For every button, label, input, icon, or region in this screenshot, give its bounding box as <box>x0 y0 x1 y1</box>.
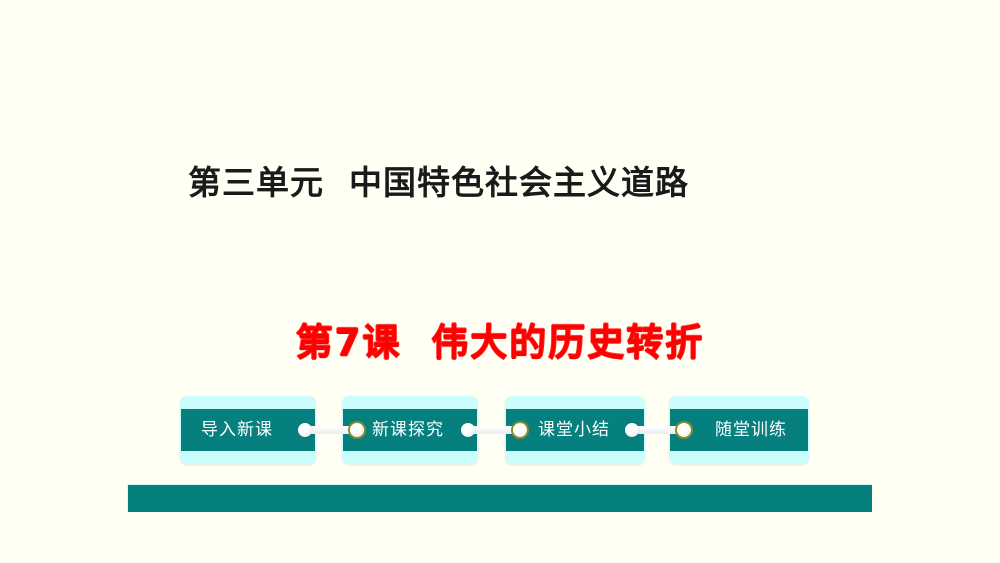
nav-chip-ketang-xiaojie[interactable]: 课堂小结 <box>505 396 645 464</box>
lesson-title: 第7课 伟大的历史转折 <box>0 317 1000 369</box>
footer-accent-bar <box>127 484 872 512</box>
nav-chip-suitang-xunlian[interactable]: 随堂训练 <box>669 396 809 464</box>
nav-chip-xinke-tanjiu[interactable]: 新课探究 <box>342 396 478 464</box>
nav-chip-daoru-xinke[interactable]: 导入新课 <box>180 396 316 464</box>
nav-chip-label: 随堂训练 <box>669 409 809 451</box>
nav-chip-label: 课堂小结 <box>505 409 645 451</box>
slide-canvas: 第三单元 中国特色社会主义道路 第7课 伟大的历史转折 导入新课 新课探究 课堂… <box>0 0 1000 563</box>
nav-chip-label: 导入新课 <box>180 409 316 451</box>
nav-chip-label: 新课探究 <box>342 409 478 451</box>
navigation-chip-row: 导入新课 新课探究 课堂小结 随堂训练 <box>180 396 820 464</box>
unit-title: 第三单元 中国特色社会主义道路 <box>188 160 689 206</box>
